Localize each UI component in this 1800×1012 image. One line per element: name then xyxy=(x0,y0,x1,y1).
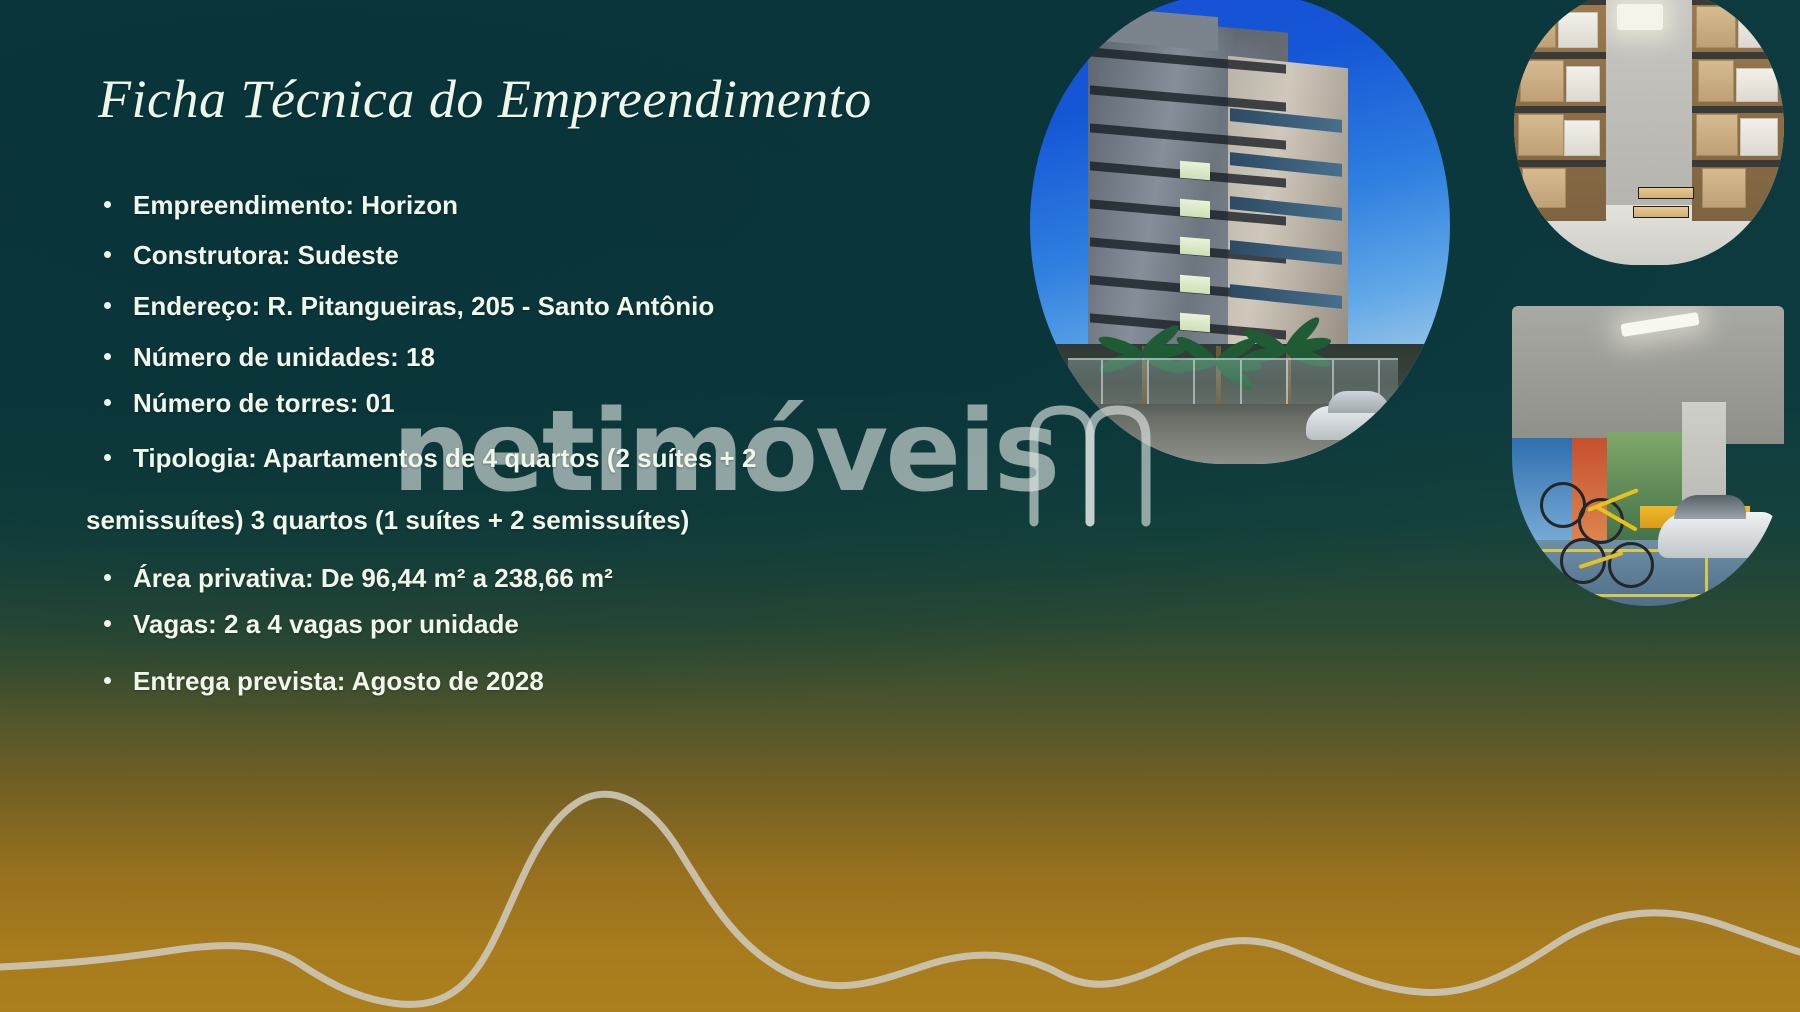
page-title: Ficha Técnica do Empreendimento xyxy=(98,68,872,130)
spec-text: Entrega prevista: Agosto de 2028 xyxy=(133,666,918,696)
bullet-dot xyxy=(104,251,111,258)
spec-text: Endereço: R. Pitangueiras, 205 - Santo A… xyxy=(133,291,918,321)
spec-text: Empreendimento: Horizon xyxy=(133,190,918,220)
list-item: Empreendimento: Horizon xyxy=(88,190,918,220)
bullet-dot xyxy=(104,201,111,208)
list-item: Número de torres: 01 xyxy=(88,388,918,418)
spec-list: Empreendimento: Horizon Construtora: Sud… xyxy=(88,190,918,697)
building-exterior-render xyxy=(1030,0,1450,464)
bullet-dot xyxy=(104,620,111,627)
bullet-dot xyxy=(104,677,111,684)
decorative-wave-line xyxy=(0,712,1800,1012)
spec-text: Vagas: 2 a 4 vagas por unidade xyxy=(133,609,918,639)
spec-text: Área privativa: De 96,44 m² a 238,66 m² xyxy=(133,563,918,593)
bullet-dot xyxy=(104,399,111,406)
spec-text: Número de torres: 01 xyxy=(133,388,918,418)
parked-car xyxy=(1306,406,1426,440)
ceiling-light xyxy=(1617,4,1663,30)
spec-text-continuation: semissuítes) 3 quartos (1 suítes + 2 sem… xyxy=(86,505,918,535)
list-item: Área privativa: De 96,44 m² a 238,66 m² xyxy=(88,563,918,593)
shelf-rack-right xyxy=(1692,0,1784,221)
bullet-dot xyxy=(104,454,111,461)
parked-car xyxy=(1658,512,1778,558)
list-item: Tipologia: Apartamentos de 4 quartos (2 … xyxy=(88,443,918,473)
slide-canvas: netimóveis Ficha Técnica do Empreendimen… xyxy=(0,0,1800,1012)
list-item: Entrega prevista: Agosto de 2028 xyxy=(88,666,918,696)
spec-text: Tipologia: Apartamentos de 4 quartos (2 … xyxy=(133,443,918,473)
list-item: Construtora: Sudeste xyxy=(88,240,918,270)
list-item: Número de unidades: 18 xyxy=(88,342,918,372)
bullet-dot xyxy=(104,302,111,309)
list-item: Endereço: R. Pitangueiras, 205 - Santo A… xyxy=(88,291,918,321)
bicycle xyxy=(1608,542,1654,588)
image-collage xyxy=(1180,0,1800,640)
shelf-rack-left xyxy=(1514,0,1606,221)
list-item: Vagas: 2 a 4 vagas por unidade xyxy=(88,609,918,639)
garage-bike-rack-render xyxy=(1512,306,1784,606)
spec-text: Número de unidades: 18 xyxy=(133,342,918,372)
storage-room-render xyxy=(1514,0,1784,265)
spec-text: Construtora: Sudeste xyxy=(133,240,918,270)
bullet-dot xyxy=(104,353,111,360)
bullet-dot xyxy=(104,574,111,581)
